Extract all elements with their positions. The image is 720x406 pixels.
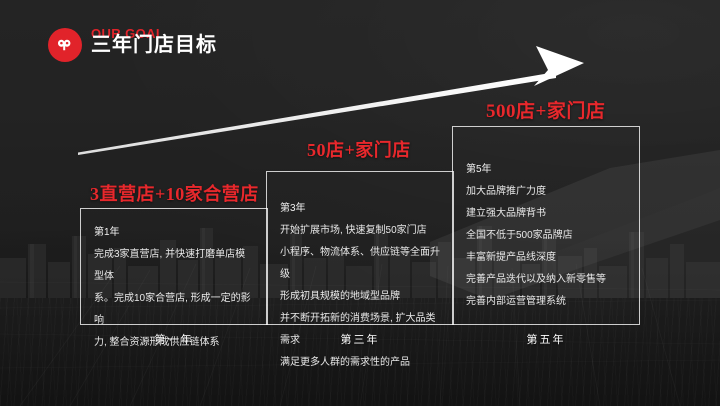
milestone-label-year3: 50店+家门店 [307, 136, 411, 162]
axis-label-year1: 第一年 [80, 331, 268, 347]
page-title: 三年门店目标 [91, 34, 217, 56]
axis-label-year3: 第三年 [266, 331, 454, 347]
brand-header: OUR GOAL 三年门店目标 [48, 27, 91, 63]
phase-year-label: 第3年 [280, 198, 440, 220]
phase-detail-line: 建立强大品牌背书 [466, 203, 626, 225]
phase-year-label: 第1年 [94, 222, 254, 244]
milestone-label-year5: 500店+家门店 [486, 96, 605, 123]
phase-detail-line: 满足更多人群的需求性的产品 [280, 352, 440, 374]
phase-detail-line: 形成初具规模的地域型品牌 [280, 286, 440, 308]
slide-canvas: OUR GOAL 三年门店目标 3直营店+10家合营店 50店+家门店 500店… [0, 0, 720, 406]
phase-detail-line: 系。完成10家合营店, 形成一定的影响 [94, 288, 254, 332]
phase-box-year1: 第1年 完成3家直营店, 并快速打磨单店模型体 系。完成10家合营店, 形成一定… [80, 208, 268, 325]
phase-detail-line: 开始扩展市场, 快速复制50家门店 [280, 220, 440, 242]
phase-year-label: 第5年 [466, 159, 626, 181]
milestone-label-year1: 3直营店+10家合营店 [90, 180, 259, 206]
phase-box-year5: 第5年 加大品牌推广力度 建立强大品牌背书 全国不低于500家品牌店 丰富新提产… [452, 126, 640, 325]
phase-detail-line: 完善内部运营管理系统 [466, 291, 626, 313]
phase-detail-line: 小程序、物流体系、供应链等全面升级 [280, 242, 440, 286]
phase-detail-line: 完善产品迭代以及纳入新零售等 [466, 269, 626, 291]
phase-detail-line: 完成3家直营店, 并快速打磨单店模型体 [94, 244, 254, 288]
phase-detail-line: 全国不低于500家品牌店 [466, 225, 626, 247]
phase-detail-line: 加大品牌推广力度 [466, 181, 626, 203]
phase-box-year3: 第3年 开始扩展市场, 快速复制50家门店 小程序、物流体系、供应链等全面升级 … [266, 171, 454, 325]
phase-detail-line: 丰富新提产品线深度 [466, 247, 626, 269]
circle-logo-icon [48, 28, 82, 62]
axis-label-year5: 第五年 [452, 331, 640, 347]
